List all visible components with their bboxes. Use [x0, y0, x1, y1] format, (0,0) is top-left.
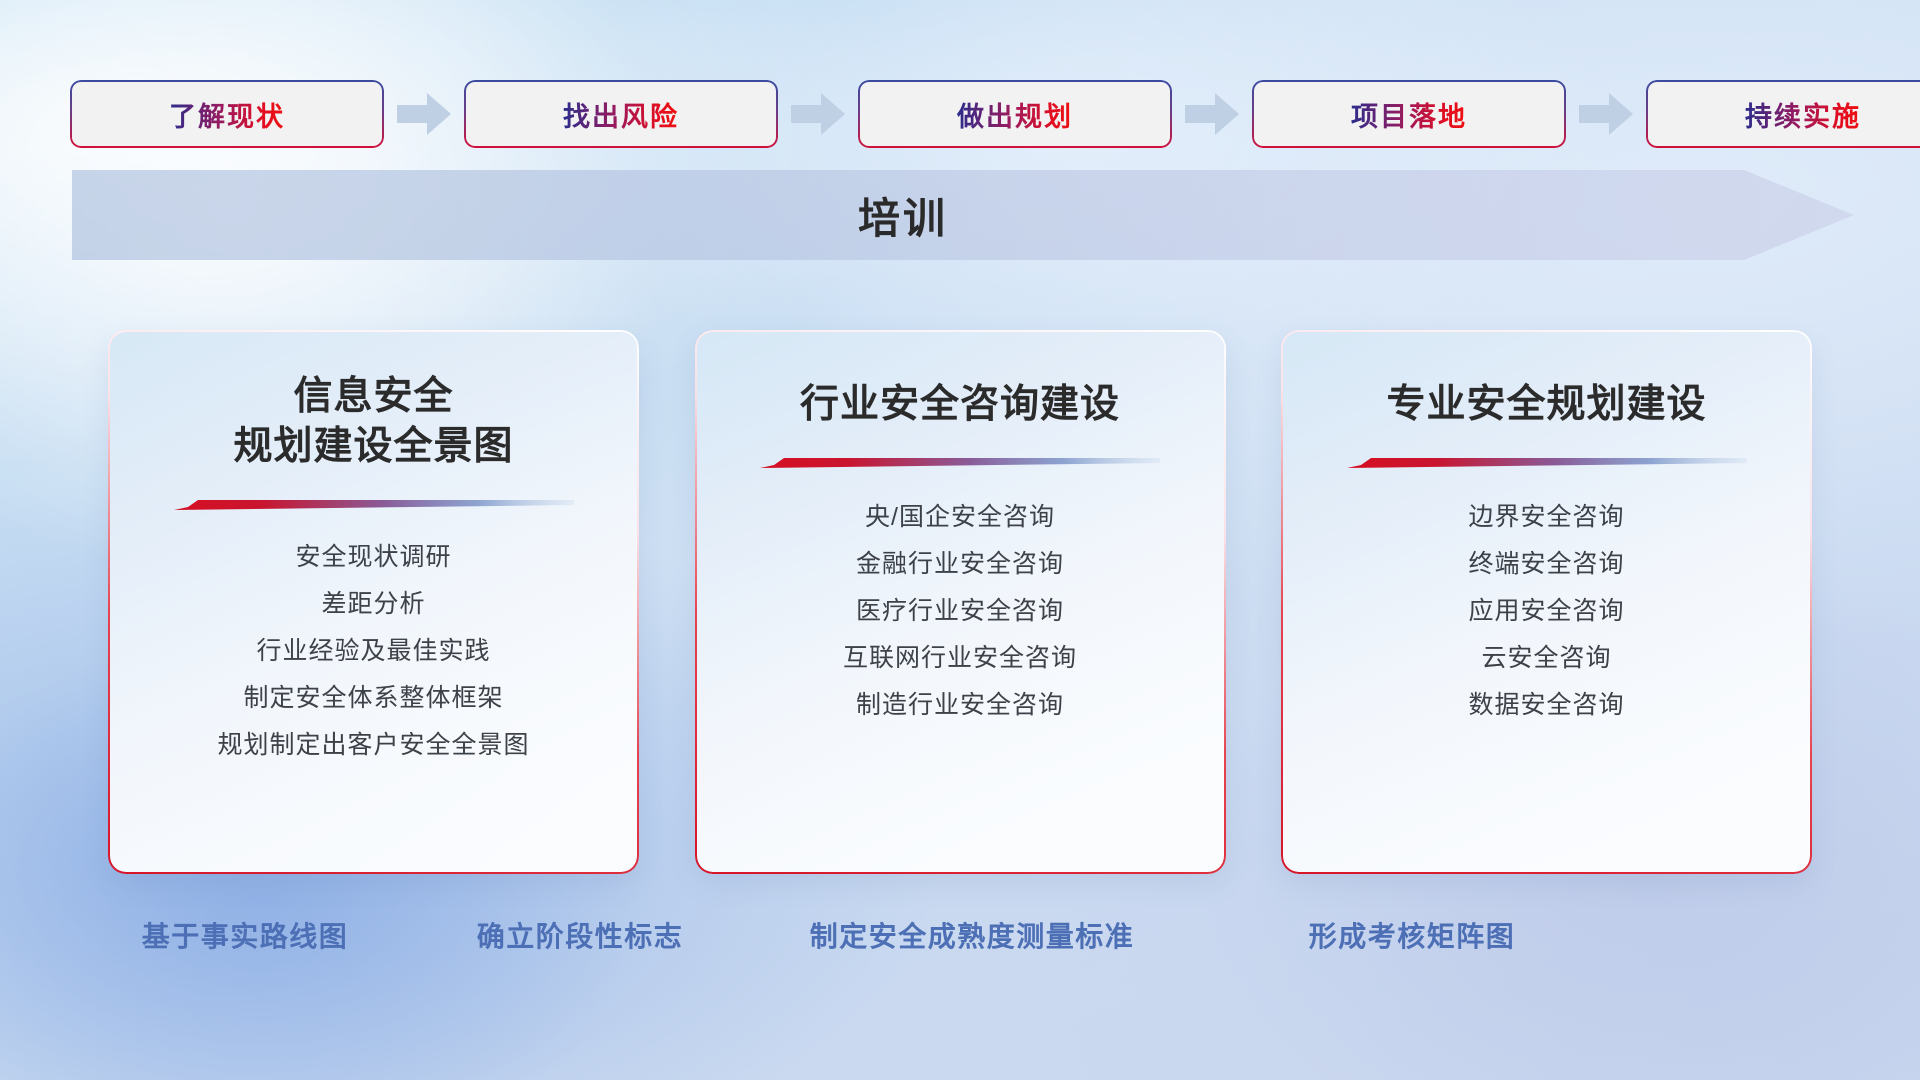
right-arrow-icon: [1185, 92, 1239, 136]
list-item: 制造行业安全咨询: [725, 682, 1196, 729]
list-item: 差距分析: [138, 581, 609, 628]
cards-row: 信息安全 规划建设全景图 安全现状调研: [110, 332, 1810, 877]
step-label-5: 持续实施: [1745, 95, 1861, 134]
footer-label-4: 形成考核矩阵图: [1309, 915, 1516, 955]
list-item: 终端安全咨询: [1311, 541, 1782, 588]
red-gradient-divider: [760, 454, 1160, 470]
list-item: 行业经验及最佳实践: [138, 628, 609, 675]
footer-labels: 基于事实路线图 确立阶段性标志 制定安全成熟度测量标准 形成考核矩阵图: [0, 915, 1920, 969]
step-box-2[interactable]: 找出风险: [466, 82, 776, 146]
footer-label-2: 确立阶段性标志: [477, 915, 684, 955]
list-item: 医疗行业安全咨询: [725, 588, 1196, 635]
card-2-title: 行业安全咨询建设: [800, 380, 1120, 430]
step-label-4: 项目落地: [1351, 95, 1467, 134]
red-gradient-divider: [1347, 454, 1747, 470]
card-3-title: 专业安全规划建设: [1386, 380, 1706, 430]
list-item: 互联网行业安全咨询: [725, 635, 1196, 682]
step-label-1: 了解现状: [169, 95, 285, 134]
list-item: 金融行业安全咨询: [725, 541, 1196, 588]
list-item: 制定安全体系整体框架: [138, 675, 609, 722]
list-item: 云安全咨询: [1311, 635, 1782, 682]
training-banner: 培训: [72, 170, 1854, 260]
step-label-3: 做出规划: [957, 95, 1073, 134]
list-item: 规划制定出客户安全全景图: [138, 722, 609, 769]
step-box-3[interactable]: 做出规划: [860, 82, 1170, 146]
card-1[interactable]: 信息安全 规划建设全景图 安全现状调研: [110, 332, 637, 872]
process-steps: 了解现状 找出风险 做出规划 项目落地 持续实施: [72, 78, 1852, 150]
card-1-title: 信息安全 规划建设全景图: [233, 372, 513, 472]
card-3[interactable]: 专业安全规划建设 边界安全咨询: [1283, 332, 1810, 872]
right-arrow-icon: [1579, 92, 1633, 136]
banner-title: 培训: [72, 170, 1854, 260]
card-1-list: 安全现状调研 差距分析 行业经验及最佳实践 制定安全体系整体框架 规划制定出客户…: [138, 534, 609, 769]
footer-label-1: 基于事实路线图: [142, 915, 349, 955]
step-box-4[interactable]: 项目落地: [1254, 82, 1564, 146]
list-item: 边界安全咨询: [1311, 494, 1782, 541]
right-arrow-icon: [791, 92, 845, 136]
footer-label-3: 制定安全成熟度测量标准: [810, 915, 1135, 955]
red-gradient-divider: [174, 496, 574, 512]
step-box-1[interactable]: 了解现状: [72, 82, 382, 146]
list-item: 央/国企安全咨询: [725, 494, 1196, 541]
card-3-list: 边界安全咨询 终端安全咨询 应用安全咨询 云安全咨询 数据安全咨询: [1311, 494, 1782, 729]
list-item: 应用安全咨询: [1311, 588, 1782, 635]
card-2-list: 央/国企安全咨询 金融行业安全咨询 医疗行业安全咨询 互联网行业安全咨询 制造行…: [725, 494, 1196, 729]
list-item: 安全现状调研: [138, 534, 609, 581]
step-box-5[interactable]: 持续实施: [1648, 82, 1920, 146]
card-2[interactable]: 行业安全咨询建设 央/国企安全咨询: [697, 332, 1224, 872]
step-label-2: 找出风险: [563, 95, 679, 134]
list-item: 数据安全咨询: [1311, 682, 1782, 729]
right-arrow-icon: [397, 92, 451, 136]
